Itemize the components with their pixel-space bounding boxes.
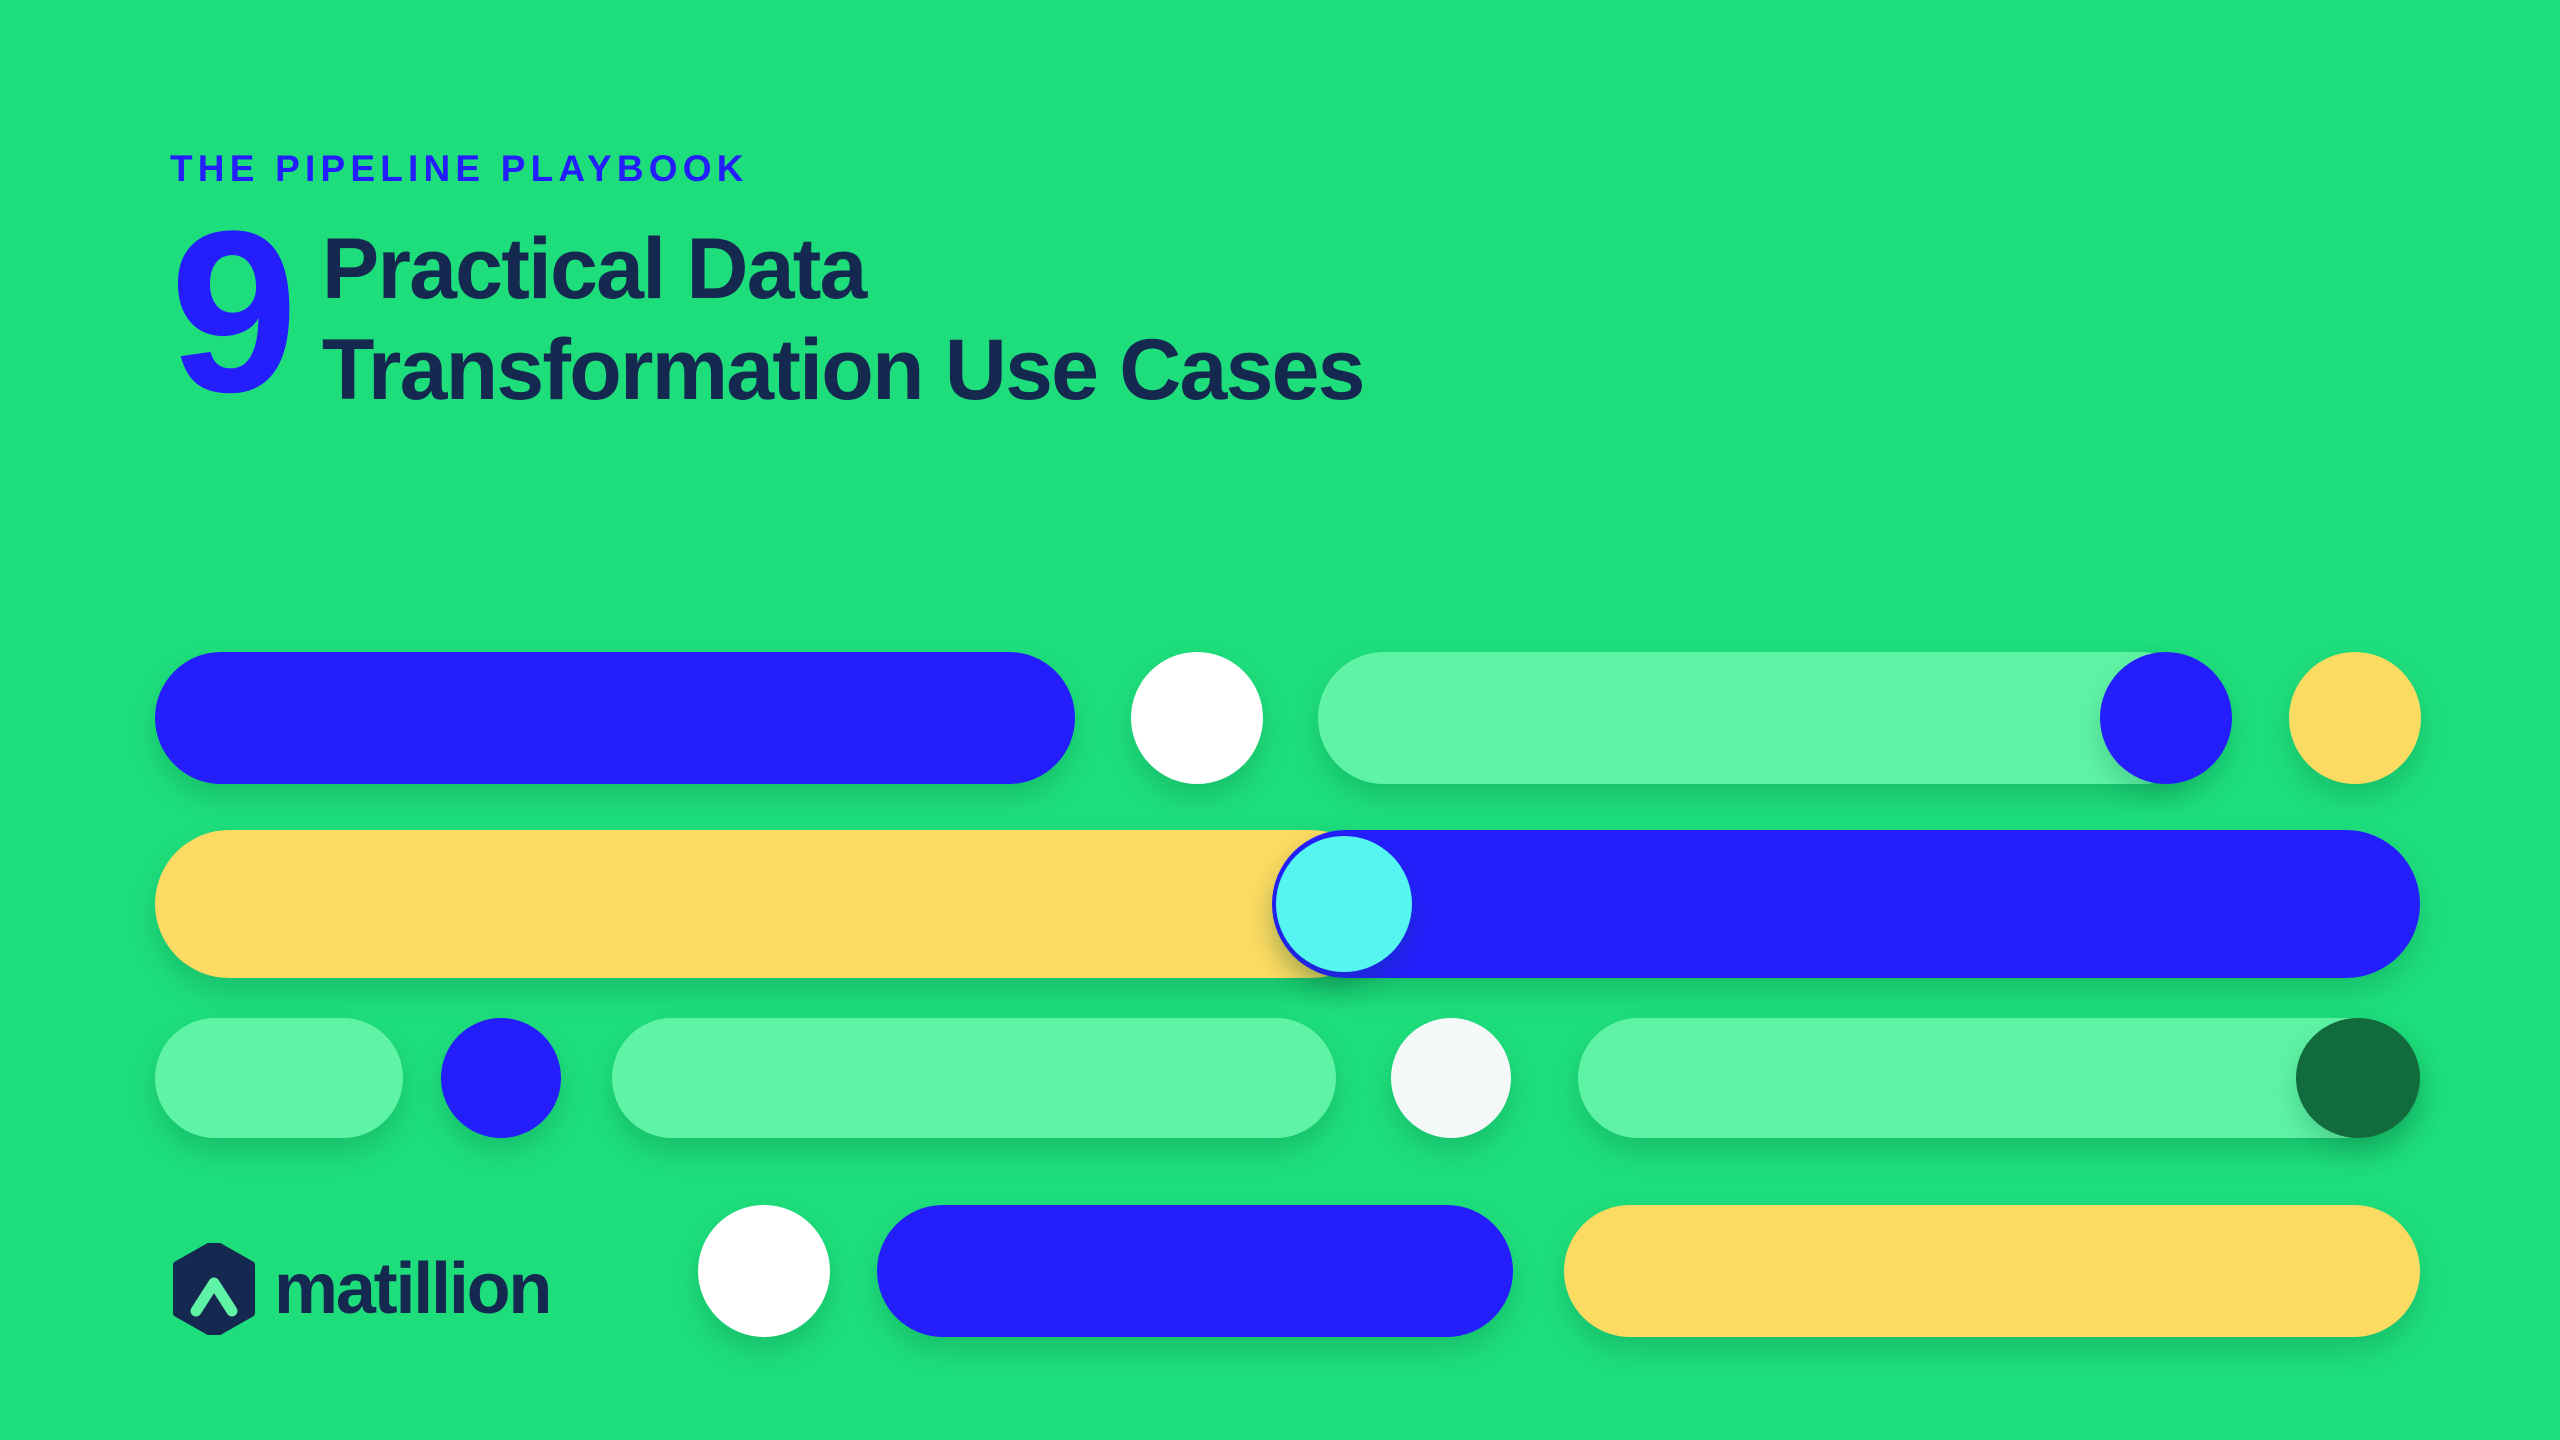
count-numeral: 9 (170, 205, 292, 413)
dot-blue-2 (441, 1018, 561, 1138)
brand-logo: matillion (172, 1243, 550, 1335)
header-block: THE PIPELINE PLAYBOOK 9 Practical Data T… (170, 150, 1870, 420)
bar-mint-short (155, 1018, 403, 1138)
bar-blue-wide (155, 652, 1075, 784)
dot-dark-green (2296, 1018, 2420, 1138)
page-title-line-1: Practical Data (322, 219, 1364, 320)
dot-cyan (1276, 836, 1412, 972)
dot-white (1131, 652, 1263, 784)
bar-blue-medium (877, 1205, 1513, 1337)
dot-yellow (2289, 652, 2421, 784)
bar-yellow-long (155, 830, 1385, 978)
page-title-line-2: Transformation Use Cases (322, 320, 1364, 421)
page-title: Practical Data Transformation Use Cases (322, 205, 1364, 420)
dot-white-2 (698, 1205, 830, 1337)
matillion-wordmark: matillion (274, 1253, 550, 1325)
matillion-hexagon-icon (172, 1243, 256, 1335)
bar-mint-medium (612, 1018, 1336, 1138)
bar-blue-long (1272, 830, 2420, 978)
dot-offwhite (1391, 1018, 1511, 1138)
bar-yellow-wide (1564, 1205, 2420, 1337)
bar-mint-long (1578, 1018, 2418, 1138)
title-row: 9 Practical Data Transformation Use Case… (170, 205, 1870, 420)
poster-canvas: THE PIPELINE PLAYBOOK 9 Practical Data T… (0, 0, 2560, 1440)
eyebrow-label: THE PIPELINE PLAYBOOK (170, 150, 1870, 187)
bar-mint-wide (1318, 652, 2208, 784)
dot-blue (2100, 652, 2232, 784)
